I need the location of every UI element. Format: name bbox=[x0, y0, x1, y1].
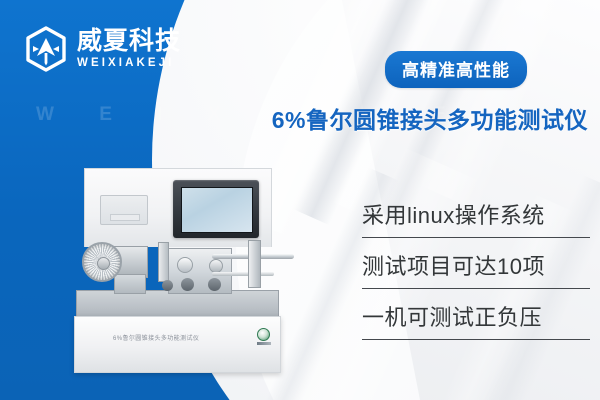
touchscreen-panel-icon bbox=[173, 180, 259, 238]
product-title: 6%鲁尔圆锥接头多功能测试仪 bbox=[272, 101, 588, 135]
feature-text: 一机可测试正负压 bbox=[362, 300, 590, 332]
feature-item: 采用linux操作系统 bbox=[362, 196, 590, 238]
brand-logo-text: 威夏科技 WEIXIAKEJI bbox=[77, 29, 181, 70]
machine-knob bbox=[162, 280, 173, 291]
certification-emblem-icon bbox=[256, 328, 271, 345]
machine-clamp-post-right bbox=[248, 240, 261, 288]
product-photo: 6%鲁尔圆锥接头多功能测试仪 bbox=[62, 168, 314, 373]
feature-text: 测试项目可达10项 bbox=[362, 249, 590, 281]
knurled-wheel-icon bbox=[82, 242, 122, 282]
brand-name-en: WEIXIAKEJI bbox=[77, 58, 181, 70]
machine-knob bbox=[181, 278, 194, 291]
brand-name-cn: 威夏科技 bbox=[77, 29, 181, 54]
machine-guide-rail bbox=[212, 272, 274, 276]
brand-logo: 威夏科技 WEIXIAKEJI bbox=[24, 26, 181, 72]
machine-wheel-stand bbox=[114, 274, 146, 294]
emblem-text-bar bbox=[257, 342, 271, 345]
hmi-screen bbox=[181, 187, 253, 233]
hexagon-shield-logo-icon bbox=[24, 26, 68, 72]
machine-upper-housing bbox=[84, 168, 272, 247]
machine-front-label: 6%鲁尔圆锥接头多功能测试仪 bbox=[113, 333, 199, 342]
feature-list: 采用linux操作系统 测试项目可达10项 一机可测试正负压 bbox=[362, 196, 590, 340]
feature-item: 一机可测试正负压 bbox=[362, 298, 590, 340]
machine-knob bbox=[208, 278, 221, 291]
emblem-circle bbox=[257, 328, 270, 341]
product-banner: W E I X I A K E 威夏科技 WEIXIAKEJI 高精准高性能 6… bbox=[0, 0, 600, 400]
feature-item: 测试项目可达10项 bbox=[362, 247, 590, 289]
machine-base-body: 6%鲁尔圆锥接头多功能测试仪 bbox=[74, 316, 281, 373]
headline-badge: 高精准高性能 bbox=[385, 51, 527, 88]
machine-access-plate bbox=[100, 195, 148, 225]
feature-text: 采用linux操作系统 bbox=[362, 198, 590, 230]
